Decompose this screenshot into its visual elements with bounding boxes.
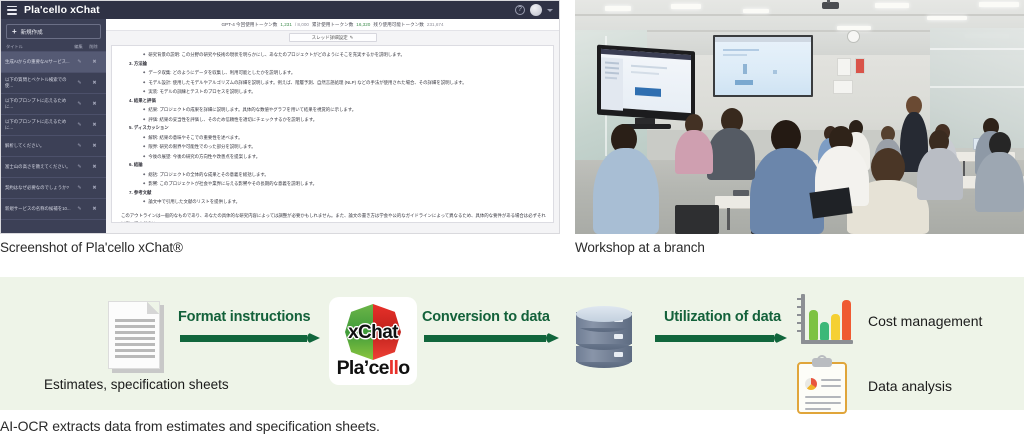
photo-projector-mount <box>827 0 830 3</box>
photo-screen-ui <box>723 49 759 51</box>
outline-bullet: 論文中で引用した文献のリストを提供します。 <box>119 197 546 207</box>
pencil-icon[interactable]: ✎ <box>72 185 87 191</box>
arrow-format-instructions <box>180 332 320 345</box>
xchat-placello-logo: xChat Pla’cello <box>329 297 417 385</box>
chat-history-item-label: 以下のプロンプトに応えるために... <box>5 119 72 131</box>
thread-settings-label: スレッド詳細設定 <box>312 35 348 41</box>
workshop-photo <box>575 0 1024 234</box>
trash-icon[interactable]: ✖ <box>87 164 102 170</box>
assistant-footer-note: このアウトラインは一般的なものであり、あなたの具体的な研究内容によっては調整が必… <box>119 212 546 224</box>
photo-ceiling-light <box>979 2 1019 7</box>
help-question-icon[interactable]: ? <box>515 5 525 15</box>
db-indicator <box>614 334 623 339</box>
history-header: タイトル 編集 削除 <box>1 43 106 52</box>
token-label-3: 残り使用可能トークン数 <box>373 22 424 28</box>
outline-bullet: 今後の展望: 今後の研究の方向性や改善点を提案します。 <box>119 152 546 162</box>
photo-screen-ui <box>773 70 777 74</box>
caption-right: Workshop at a branch <box>575 240 705 255</box>
arrow2-label: Conversion to data <box>422 309 550 325</box>
db-top <box>576 306 632 322</box>
edit-icon: ✎ <box>350 35 354 41</box>
photo-desk-leg <box>727 208 730 230</box>
chat-history-item-label: 新規サービスの名称の候補を10... <box>5 206 72 212</box>
logo-placello-o: o <box>398 357 409 379</box>
photo-person <box>707 128 755 180</box>
thread-settings-button[interactable]: スレッド詳細設定 ✎ <box>289 33 377 42</box>
outline-bullet: データ収集: どのようにデータを収集し、利用可能としたかを説明します。 <box>119 68 546 78</box>
output-label-cost-management: Cost management <box>868 313 982 329</box>
bar-chart-icon <box>797 294 855 350</box>
outline-bullet: 限界: 研究の限界や可能性でのった部分を説明します。 <box>119 142 546 152</box>
logo-placello-p: P <box>337 357 349 379</box>
chat-history-item[interactable]: 解析してください。✎✖ <box>1 136 106 157</box>
app-title: Pla'cello xChat <box>24 4 100 16</box>
history-col-delete: 削除 <box>86 44 101 50</box>
chat-history-item-label: 生成AIからの重要なAIサービス... <box>5 59 72 65</box>
photo-ceiling-light <box>875 3 909 8</box>
photo-monitor-block <box>635 87 661 97</box>
trash-icon[interactable]: ✖ <box>87 122 102 128</box>
photo-person <box>975 152 1024 212</box>
logo-placello-ll: ll <box>389 357 398 379</box>
pencil-icon[interactable]: ✎ <box>72 206 87 212</box>
photo-monitor-sidebar <box>601 57 623 111</box>
clipboard-clip-ring <box>817 355 827 362</box>
db-indicator <box>614 352 623 357</box>
titlebar-actions: ? <box>515 4 553 16</box>
outline-bullet: 研究背景の説明: この分野の研究や技術の現状を明らかにし、あなたのプロジェクトが… <box>119 50 546 60</box>
outline-bullet: 総括: プロジェクトの全体的な成果とその意義を総括します。 <box>119 170 546 180</box>
photo-projection-screen <box>715 37 811 95</box>
history-col-title: タイトル <box>6 44 71 50</box>
document-page <box>108 301 160 369</box>
new-chat-button[interactable]: + 新規作成 <box>6 24 101 39</box>
pencil-icon[interactable]: ✎ <box>72 164 87 170</box>
photo-ceiling-light <box>605 6 631 11</box>
chart-x-axis <box>801 340 853 344</box>
outline-bullet: 結果: プロジェクトの成果を詳細に説明します。具体的な数値やグラフを用いて結果を… <box>119 105 546 115</box>
app-titlebar: Pla'cello xChat ? <box>1 1 559 19</box>
photo-wall-poster <box>855 58 865 74</box>
token-value-1: 1,231 <box>280 22 292 27</box>
outline-heading: 6. 結論 <box>119 161 546 170</box>
chat-history-item[interactable]: 生成AIからの重要なAIサービス...✎✖ <box>1 52 106 73</box>
photo-desk-leg <box>963 161 965 177</box>
hamburger-menu-icon[interactable] <box>7 6 17 15</box>
app-main-area: スレッド詳細設定 ✎ 研究背景の説明: この分野の研究や技術の現状を明らかにし、… <box>106 31 559 234</box>
trash-icon[interactable]: ✖ <box>87 59 102 65</box>
top-row: Pla'cello xChat ? GPT-4 今回使用トークン数 1,231 … <box>0 0 1024 265</box>
token-mid: / 8,000 <box>295 22 309 27</box>
app-sidebar: + 新規作成 タイトル 編集 削除 生成AIからの重要なAIサービス...✎✖以… <box>1 19 106 234</box>
photo-ceiling-light <box>743 9 769 13</box>
chat-history-item[interactable]: 以下のプロンプトに応えるために...✎✖ <box>1 94 106 115</box>
document-icon <box>108 301 164 373</box>
app-screenshot-panel: Pla'cello xChat ? GPT-4 今回使用トークン数 1,231 … <box>0 0 560 234</box>
photo-person <box>750 148 824 234</box>
trash-icon[interactable]: ✖ <box>87 185 102 191</box>
chart-bar <box>820 322 829 340</box>
outline-heading: 4. 結果と評価 <box>119 97 546 106</box>
caption-bottom: AI-OCR extracts data from estimates and … <box>0 418 380 434</box>
chat-history-item-label: 以下のプロンプトに応えるために... <box>5 98 72 110</box>
chat-history-item[interactable]: 契約はなぜ必要なのでしょうか?✎✖ <box>1 178 106 199</box>
logo-placello-text: Pla’cello <box>329 357 417 380</box>
photo-laptop-closed <box>809 187 852 218</box>
photo-glass-line <box>930 48 1024 50</box>
source-label: Estimates, specification sheets <box>44 377 229 392</box>
token-value-2: 16,320 <box>356 22 370 27</box>
outline-bullet: 評価: 結果の妥当性を評価し、そのため信頼性を適切にチェックするかを説明します。 <box>119 115 546 125</box>
chat-history-item-label: 契約はなぜ必要なのでしょうか? <box>5 185 72 191</box>
token-usage-bar: GPT-4 今回使用トークン数 1,231 / 8,000 累計使用トークン数 … <box>106 19 559 31</box>
chat-message-card: 研究背景の説明: この分野の研究や技術の現状を明らかにし、あなたのプロジェクトが… <box>111 45 554 223</box>
photo-screen-ui <box>735 80 753 85</box>
token-prefix: GPT-4 今回使用トークン数 <box>221 22 277 28</box>
pencil-icon[interactable]: ✎ <box>72 143 87 149</box>
chat-history-item[interactable]: 以下のプロンプトに応えるために...✎✖ <box>1 115 106 136</box>
chat-history-item-label: 富士山の高さを教えてください。 <box>5 164 72 170</box>
history-col-edit: 編集 <box>71 44 86 50</box>
photo-projector <box>822 2 839 9</box>
trash-icon[interactable]: ✖ <box>87 101 102 107</box>
photo-wall-poster <box>833 80 853 94</box>
trash-icon[interactable]: ✖ <box>87 80 102 86</box>
chart-bar <box>842 300 851 340</box>
outline-bullet: モデル設計: 使用したモデルやアルゴリズムの詳細を説明します。例えば、階層予測、… <box>119 78 546 88</box>
arrow3-label: Utilization of data <box>664 309 781 325</box>
trash-icon[interactable]: ✖ <box>87 206 102 212</box>
output-label-data-analysis: Data analysis <box>868 378 952 394</box>
outline-heading: 7. 参考文献 <box>119 189 546 198</box>
chart-y-axis <box>801 294 805 344</box>
arrow-conversion-to-data <box>424 332 559 345</box>
new-chat-label: 新規作成 <box>21 28 43 36</box>
chevron-down-icon[interactable] <box>547 9 553 12</box>
clipboard-pie-chart <box>805 378 817 390</box>
token-label-2: 累計使用トークン数 <box>312 22 353 28</box>
caption-left: Screenshot of Pla'cello xChat® <box>0 240 183 255</box>
arrow1-label: Format instructions <box>178 309 310 325</box>
clipboard-report-icon <box>797 358 847 414</box>
logo-xchat-text: xChat <box>329 322 417 344</box>
photo-chair <box>675 205 719 234</box>
chat-history-item-label: 解析してください。 <box>5 143 72 149</box>
outline-heading: 5. ディスカッション <box>119 124 546 133</box>
assistant-outline-content: 研究背景の説明: この分野の研究や技術の現状を明らかにし、あなたのプロジェクトが… <box>119 50 546 207</box>
photo-phone <box>733 190 749 196</box>
plus-icon: + <box>12 28 17 36</box>
database-icon <box>576 306 632 374</box>
photo-screen-toolbar <box>715 37 811 42</box>
page-root: Pla'cello xChat ? GPT-4 今回使用トークン数 1,231 … <box>0 0 1024 439</box>
chart-bar <box>831 314 840 340</box>
clipboard-body <box>797 362 847 414</box>
outline-heading: 3. 方法論 <box>119 60 546 69</box>
pencil-icon[interactable]: ✎ <box>72 80 87 86</box>
user-avatar-icon[interactable] <box>530 4 542 16</box>
pencil-icon[interactable]: ✎ <box>72 59 87 65</box>
trash-icon[interactable]: ✖ <box>87 143 102 149</box>
photo-ceiling-light <box>927 16 967 20</box>
chat-history-list: 生成AIからの重要なAIサービス...✎✖以下の質問とベクトル検索での使...✎… <box>1 52 106 220</box>
chat-history-item[interactable]: 富士山の高さを教えてください。✎✖ <box>1 157 106 178</box>
photo-glass-line <box>930 86 1024 88</box>
outline-bullet: 実装: モデルの訓練とテストのプロセスを説明します。 <box>119 87 546 97</box>
outline-bullet: 解釈: 結果の意味やそこでの重要性を述べます。 <box>119 133 546 143</box>
photo-ceiling-light <box>671 4 701 9</box>
chat-history-item-label: 以下の質問とベクトル検索での使... <box>5 77 72 89</box>
photo-screen-ui <box>743 64 747 74</box>
photo-person <box>593 148 659 234</box>
pencil-icon[interactable]: ✎ <box>72 101 87 107</box>
arrow-utilization-of-data <box>655 332 787 345</box>
document-fold <box>147 302 159 314</box>
chat-history-item[interactable]: 以下の質問とベクトル検索での使...✎✖ <box>1 73 106 94</box>
chat-history-item[interactable]: 新規サービスの名称の候補を10...✎✖ <box>1 199 106 220</box>
outline-bullet: 影響: このプロジェクトが社会や業界に与える影響やその長期的な意義を説明します。 <box>119 179 546 189</box>
logo-placello-lace: la’ce <box>349 357 389 379</box>
photo-wall-clock <box>847 30 860 43</box>
photo-person <box>917 148 963 200</box>
pencil-icon[interactable]: ✎ <box>72 122 87 128</box>
chart-bar <box>809 310 818 340</box>
token-value-3: 231,674 <box>427 22 444 27</box>
photo-wall-poster <box>837 58 851 76</box>
photo-person <box>675 130 713 174</box>
photo-screen-ui <box>723 54 747 56</box>
